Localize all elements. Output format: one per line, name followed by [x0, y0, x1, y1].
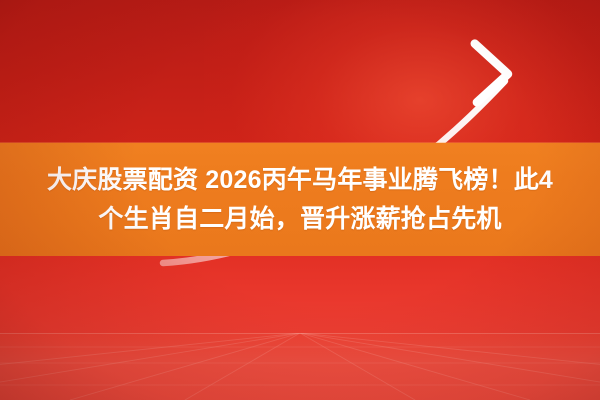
headline-line-2: 个生肖自二月始，晋升涨薪抢占先机 [98, 200, 501, 239]
headline-band: 大庆股票配资 2026丙午马年事业腾飞榜！此4 个生肖自二月始，晋升涨薪抢占先机 [0, 143, 600, 256]
perspective-grid-floor [0, 333, 600, 400]
headline-line-1: 大庆股票配资 2026丙午马年事业腾飞榜！此4 [47, 161, 553, 200]
floor-grid-lines [0, 333, 600, 400]
bar-chart [226, 266, 263, 333]
banner-image: 大庆股票配资 2026丙午马年事业腾飞榜！此4 个生肖自二月始，晋升涨薪抢占先机 [0, 0, 600, 400]
